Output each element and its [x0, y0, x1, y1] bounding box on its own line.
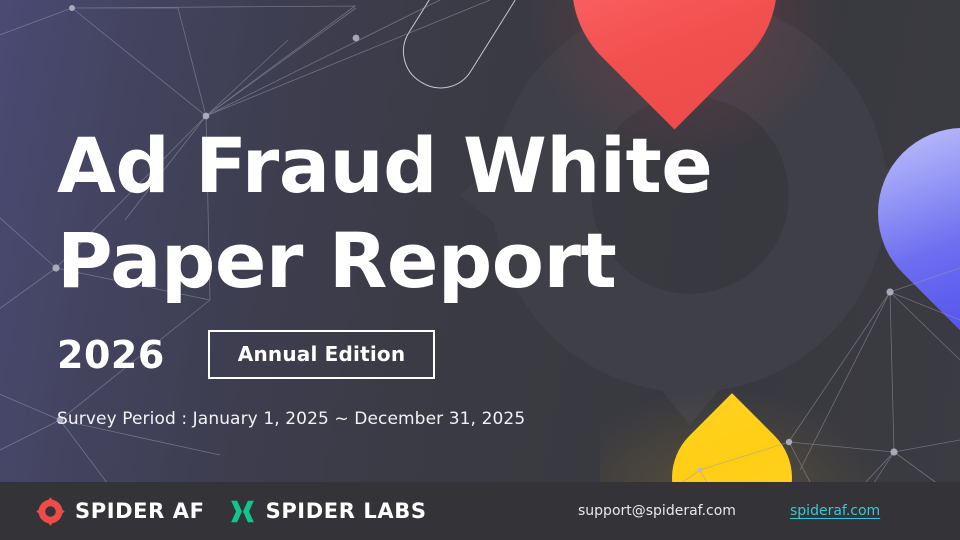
brand-spider-labs[interactable]: SPIDER LABS: [229, 498, 427, 525]
brand-label-spider-labs: SPIDER LABS: [266, 501, 427, 522]
report-cover-page: Ad Fraud White Paper Report 2026 Annual …: [0, 0, 960, 540]
spider-af-logo-icon: [36, 497, 65, 526]
spider-labs-logo-icon: [229, 498, 256, 525]
edition-meta-row: 2026 Annual Edition: [57, 330, 435, 379]
report-year: 2026: [57, 336, 165, 374]
footer-brands: SPIDER AF SPIDER LABS: [36, 497, 427, 526]
edition-badge: Annual Edition: [208, 330, 436, 379]
footer-bar: SPIDER AF SPIDER LABS support@spideraf.c…: [0, 482, 960, 540]
brand-label-spider-af: SPIDER AF: [75, 501, 205, 522]
survey-period-text: Survey Period : January 1, 2025 ~ Decemb…: [57, 409, 525, 429]
brand-spider-af[interactable]: SPIDER AF: [36, 497, 205, 526]
support-email[interactable]: support@spideraf.com: [578, 482, 736, 540]
page-title: Ad Fraud White Paper Report: [57, 118, 717, 308]
cover-content: Ad Fraud White Paper Report 2026 Annual …: [0, 0, 960, 482]
website-link[interactable]: spideraf.com: [790, 482, 880, 540]
